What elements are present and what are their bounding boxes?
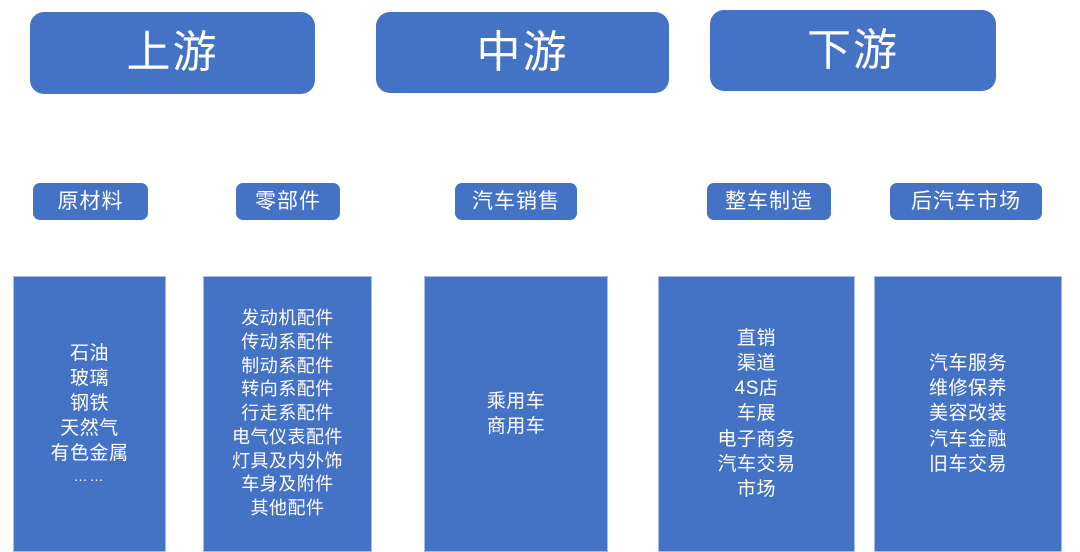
tier-pill-label: 下游 xyxy=(807,29,899,73)
panel-item: 其他配件 xyxy=(251,497,325,521)
panel-item: 发动机配件 xyxy=(241,307,334,331)
panel-item: 汽车金融 xyxy=(929,427,1007,452)
segment-pill-label: 汽车销售 xyxy=(472,191,560,212)
panel-item: 制动系配件 xyxy=(241,355,334,379)
panel-item: 电子商务 xyxy=(717,427,795,452)
segment-pill-raw-materials[interactable]: 原材料 xyxy=(33,183,148,220)
panel-raw-materials[interactable]: 石油 玻璃 钢铁 天然气 有色金属 …… xyxy=(13,276,166,552)
segment-pill-label: 整车制造 xyxy=(725,191,813,212)
tier-pill-midstream[interactable]: 中游 xyxy=(376,12,669,93)
tier-pill-upstream[interactable]: 上游 xyxy=(30,12,315,94)
panel-item: 商用车 xyxy=(487,414,546,439)
panel-item: 乘用车 xyxy=(487,389,546,414)
tier-pill-downstream[interactable]: 下游 xyxy=(710,10,996,91)
panel-item: 维修保养 xyxy=(929,376,1007,401)
panel-item: 玻璃 xyxy=(70,366,109,391)
panel-item: 灯具及内外饰 xyxy=(232,450,343,474)
segment-pill-label: 原材料 xyxy=(58,191,124,212)
panel-item: 有色金属 xyxy=(50,441,128,466)
panel-item: 石油 xyxy=(70,341,109,366)
panel-item: 电气仪表配件 xyxy=(232,426,343,450)
panel-item: 汽车交易 xyxy=(717,452,795,477)
panel-item: 4S店 xyxy=(735,376,779,401)
segment-pill-components[interactable]: 零部件 xyxy=(236,183,340,220)
panel-item: …… xyxy=(74,466,106,487)
segment-pill-label: 后汽车市场 xyxy=(911,191,1021,212)
segment-pill-aftermarket[interactable]: 后汽车市场 xyxy=(890,183,1042,220)
panel-item: 天然气 xyxy=(60,416,119,441)
panel-item: 渠道 xyxy=(737,351,776,376)
panel-item: 行走系配件 xyxy=(241,402,334,426)
panel-aftermarket[interactable]: 汽车服务 维修保养 美容改装 汽车金融 旧车交易 xyxy=(874,276,1062,552)
panel-components[interactable]: 发动机配件 传动系配件 制动系配件 转向系配件 行走系配件 电气仪表配件 灯具及… xyxy=(203,276,372,552)
panel-vehicle-manufacturing[interactable]: 乘用车 商用车 xyxy=(424,276,608,552)
industry-chain-diagram: 上游 中游 下游 原材料 零部件 汽车销售 整车制造 后汽车市场 石油 玻璃 钢… xyxy=(0,0,1080,552)
panel-item: 车身及附件 xyxy=(241,473,334,497)
panel-item: 车展 xyxy=(737,401,776,426)
tier-pill-label: 上游 xyxy=(127,31,219,75)
segment-pill-label: 零部件 xyxy=(255,191,321,212)
panel-item: 钢铁 xyxy=(70,391,109,416)
segment-pill-vehicle-manufacturing[interactable]: 整车制造 xyxy=(707,183,831,220)
panel-item: 直销 xyxy=(737,326,776,351)
panel-item: 市场 xyxy=(737,477,776,502)
panel-item: 传动系配件 xyxy=(241,331,334,355)
panel-item: 转向系配件 xyxy=(241,378,334,402)
segment-pill-auto-sales[interactable]: 汽车销售 xyxy=(455,183,577,220)
panel-item: 旧车交易 xyxy=(929,452,1007,477)
panel-auto-sales[interactable]: 直销 渠道 4S店 车展 电子商务 汽车交易 市场 xyxy=(658,276,855,552)
tier-pill-label: 中游 xyxy=(477,31,569,75)
panel-item: 汽车服务 xyxy=(929,351,1007,376)
panel-item: 美容改装 xyxy=(929,401,1007,426)
